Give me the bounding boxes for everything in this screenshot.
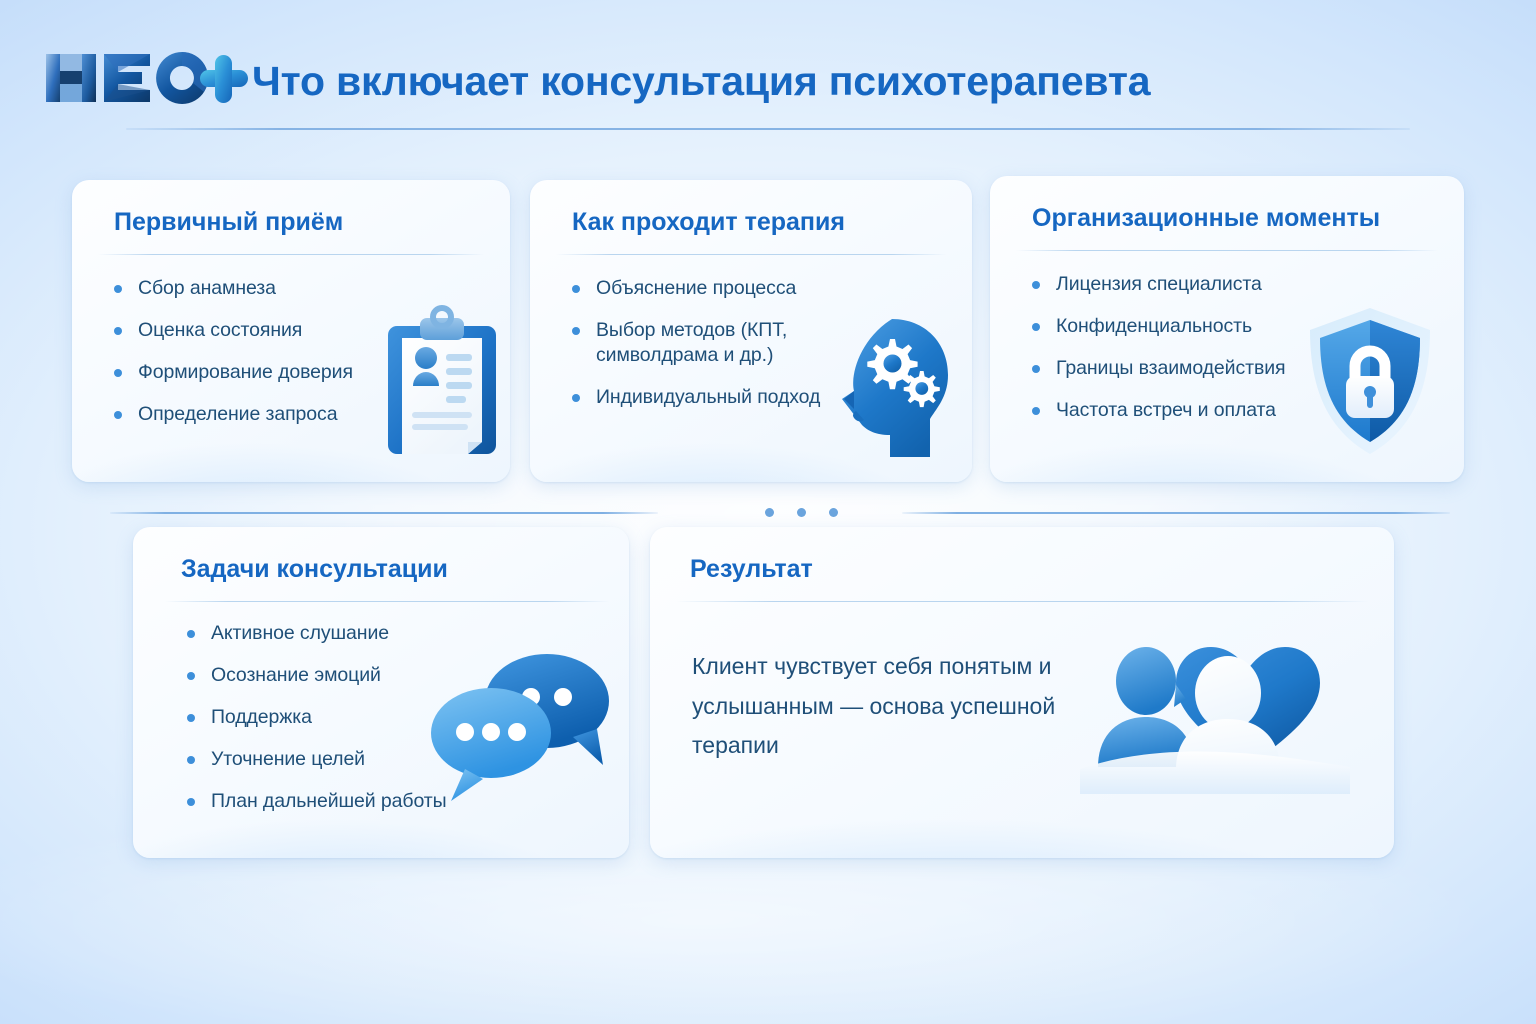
list-item: Оценка состояния [112,318,353,343]
card-zadachi-konsultacii[interactable]: Задачи консультации Активное слушание Ос… [133,527,629,858]
card-divider [165,601,609,602]
card-bullet-list: Сбор анамнеза Оценка состояния Формирова… [112,276,353,444]
list-item: Активное слушание [185,621,447,646]
list-item: Индивидуальный подход [570,385,850,410]
list-item: Поддержка [185,705,447,730]
heart-people-icon [1080,619,1350,799]
list-item: Сбор анамнеза [112,276,353,301]
divider-dot [797,508,806,517]
card-title: Как проходит терапия [572,208,845,237]
list-item: Границы взаимодействия [1030,356,1285,381]
card-title: Результат [690,555,813,584]
divider-dot [765,508,774,517]
card-divider [676,601,1368,602]
list-item: Осознание эмоций [185,663,447,688]
result-body-text: Клиент чувствует себя понятым и услышанн… [692,647,1112,766]
card-pervichny-priem[interactable]: Первичный приём Сбор анамнеза Оценка сос… [72,180,510,482]
list-item: Лицензия специалиста [1030,272,1285,297]
divider-line-left [110,512,658,514]
divider-line-right [902,512,1450,514]
list-item: Конфиденциальность [1030,314,1285,339]
card-bullet-list: Лицензия специалиста Конфиденциальность … [1030,272,1285,440]
speech-bubbles-icon [423,637,613,812]
shield-lock-icon [1302,304,1438,465]
card-bullet-list: Активное слушание Осознание эмоций Подде… [185,621,447,831]
page-header: Что включает консультация психотерапевта [0,0,1536,140]
list-item: Формирование доверия [112,360,353,385]
neo-plus-logo [38,44,248,112]
page-title: Что включает консультация психотерапевта [252,58,1150,105]
clipboard-profile-icon [380,300,504,465]
list-item: Уточнение целей [185,747,447,772]
card-divider [556,254,946,255]
infographic-page: Что включает консультация психотерапевта… [0,0,1536,1024]
list-item: План дальнейшей работы [185,789,447,814]
card-kak-prohodit-terapiya[interactable]: Как проходит терапия Объяснение процесса… [530,180,972,482]
list-item: Объяснение процесса [570,276,850,301]
list-item: Частота встреч и оплата [1030,398,1285,423]
card-bullet-list: Объяснение процесса Выбор методов (КПТ, … [570,276,850,427]
card-divider [98,254,484,255]
header-divider [126,128,1410,130]
divider-dot [829,508,838,517]
list-item: Выбор методов (КПТ, символдрама и др.) [570,318,850,368]
card-title: Первичный приём [114,208,343,237]
card-divider [1016,250,1438,251]
card-organizacionnye-momenty[interactable]: Организационные моменты Лицензия специал… [990,176,1464,482]
card-rezultat[interactable]: Результат Клиент чувствует себя понятым … [650,527,1394,858]
list-item: Определение запроса [112,402,353,427]
card-title: Организационные моменты [1032,204,1380,233]
card-title: Задачи консультации [181,555,448,584]
section-divider [110,506,1450,520]
